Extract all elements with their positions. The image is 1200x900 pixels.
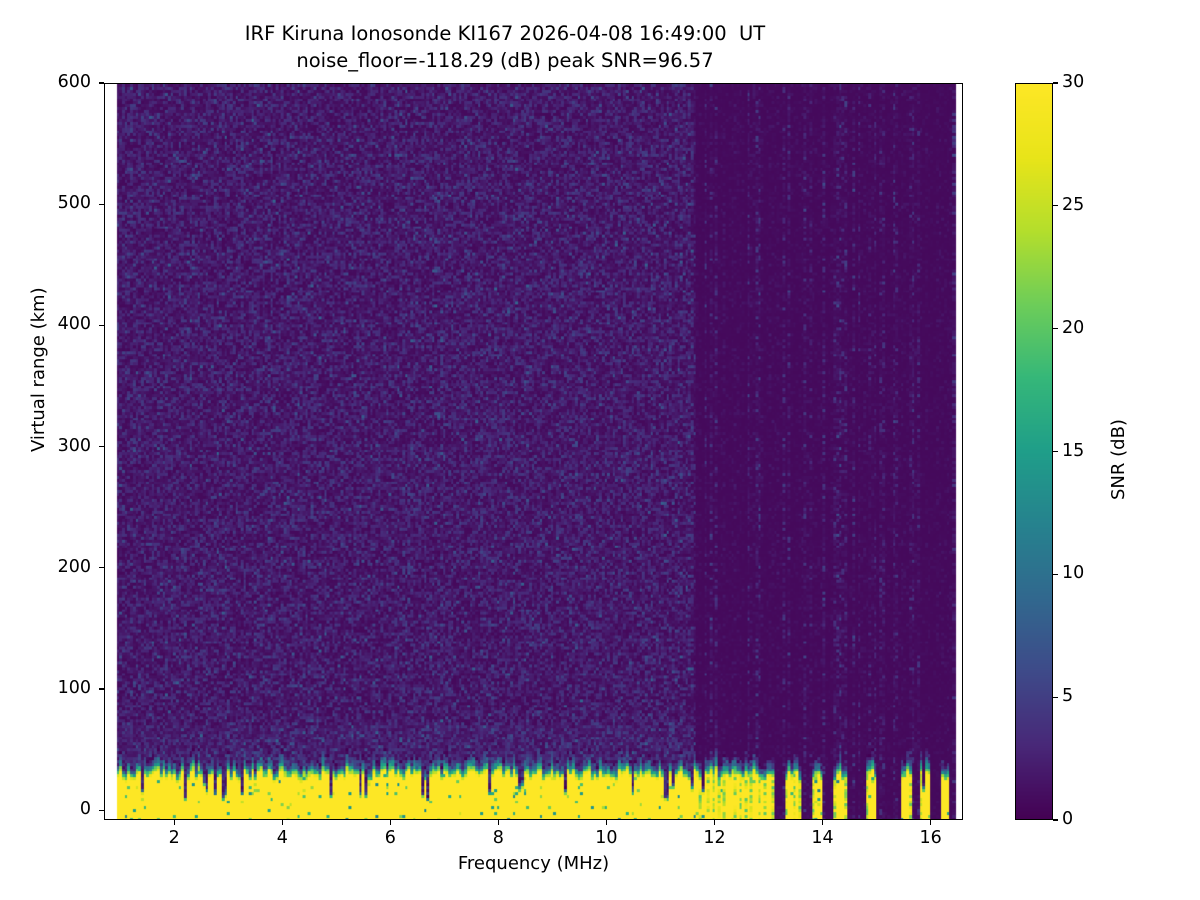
ionogram-plot-area <box>104 83 963 820</box>
colorbar <box>1015 83 1053 820</box>
y-tick-mark <box>99 325 104 326</box>
colorbar-tick-label: 25 <box>1062 197 1084 215</box>
colorbar-tick-label: 15 <box>1062 443 1084 461</box>
y-axis-label: Virtual range (km) <box>28 287 49 452</box>
x-tick-label: 8 <box>458 830 538 848</box>
x-tick-mark <box>606 820 607 825</box>
x-tick-mark <box>282 820 283 825</box>
colorbar-tick-label: 30 <box>1062 74 1084 92</box>
x-tick-label: 6 <box>350 830 430 848</box>
x-tick-label: 14 <box>783 830 863 848</box>
y-tick-mark <box>99 82 104 83</box>
x-axis-label: Frequency (MHz) <box>104 853 963 874</box>
x-tick-mark <box>498 820 499 825</box>
x-tick-mark <box>822 820 823 825</box>
y-tick-mark <box>99 688 104 689</box>
x-tick-mark <box>714 820 715 825</box>
title-line-2: noise_floor=-118.29 (dB) peak SNR=96.57 <box>296 49 713 72</box>
y-tick-mark <box>99 810 104 811</box>
colorbar-gradient <box>1016 84 1052 819</box>
colorbar-tick-label: 5 <box>1062 688 1073 706</box>
colorbar-tick-mark <box>1053 82 1058 83</box>
y-tick-label: 500 <box>21 195 91 213</box>
x-tick-mark <box>930 820 931 825</box>
colorbar-tick-mark <box>1053 328 1058 329</box>
y-tick-mark <box>99 446 104 447</box>
y-tick-label: 100 <box>21 680 91 698</box>
ionogram-heatmap-canvas <box>105 84 962 819</box>
y-tick-label: 600 <box>21 74 91 92</box>
y-tick-mark <box>99 204 104 205</box>
colorbar-tick-mark <box>1053 819 1058 820</box>
x-tick-label: 2 <box>134 830 214 848</box>
colorbar-tick-mark <box>1053 697 1058 698</box>
colorbar-tick-mark <box>1053 451 1058 452</box>
colorbar-tick-mark <box>1053 205 1058 206</box>
ionogram-figure: IRF Kiruna Ionosonde KI167 2026-04-08 16… <box>0 0 1200 900</box>
colorbar-label: SNR (dB) <box>1108 419 1129 500</box>
colorbar-tick-label: 20 <box>1062 320 1084 338</box>
x-tick-label: 4 <box>242 830 322 848</box>
colorbar-tick-label: 10 <box>1062 565 1084 583</box>
title-line-1: IRF Kiruna Ionosonde KI167 2026-04-08 16… <box>245 22 765 45</box>
x-tick-label: 16 <box>891 830 971 848</box>
figure-title: IRF Kiruna Ionosonde KI167 2026-04-08 16… <box>0 20 1010 74</box>
y-tick-label: 0 <box>21 801 91 819</box>
y-tick-mark <box>99 567 104 568</box>
colorbar-tick-mark <box>1053 574 1058 575</box>
x-tick-mark <box>390 820 391 825</box>
x-tick-mark <box>174 820 175 825</box>
y-tick-label: 200 <box>21 559 91 577</box>
x-tick-label: 10 <box>566 830 646 848</box>
colorbar-tick-label: 0 <box>1062 811 1073 829</box>
x-tick-label: 12 <box>674 830 754 848</box>
